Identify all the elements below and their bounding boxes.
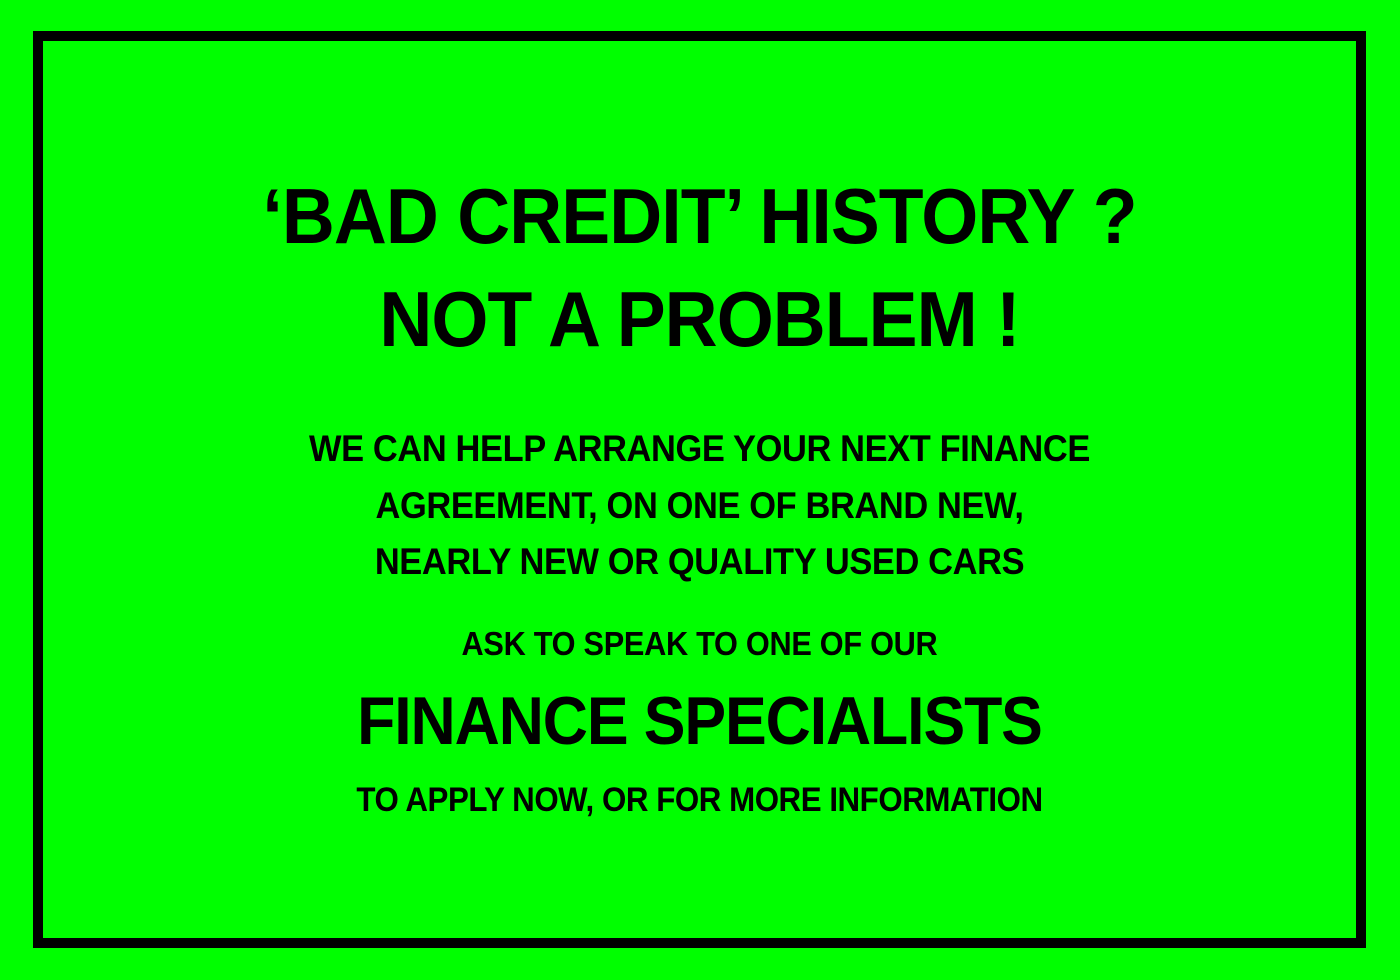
body-line-3: NEARLY NEW OR QUALITY USED CARS bbox=[89, 534, 1310, 591]
cta-lead-text: ASK TO SPEAK TO ONE OF OUR bbox=[89, 623, 1310, 665]
body-line-1: WE CAN HELP ARRANGE YOUR NEXT FINANCE bbox=[89, 421, 1310, 478]
body-line-2: AGREEMENT, ON ONE OF BRAND NEW, bbox=[89, 478, 1310, 535]
cta-tail-text: TO APPLY NOW, OR FOR MORE INFORMATION bbox=[96, 780, 1304, 821]
headline-block: ‘BAD CREDIT’ HISTORY ? NOT A PROBLEM ! bbox=[43, 165, 1356, 371]
call-to-action-block: ASK TO SPEAK TO ONE OF OUR FINANCE SPECI… bbox=[43, 623, 1356, 821]
body-paragraph-block: WE CAN HELP ARRANGE YOUR NEXT FINANCE AG… bbox=[43, 421, 1356, 591]
cta-headline-finance-specialists: FINANCE SPECIALISTS bbox=[96, 673, 1304, 770]
headline-line-1: ‘BAD CREDIT’ HISTORY ? bbox=[82, 165, 1316, 268]
headline-line-2: NOT A PROBLEM ! bbox=[82, 268, 1316, 371]
advertisement-poster: ‘BAD CREDIT’ HISTORY ? NOT A PROBLEM ! W… bbox=[0, 0, 1400, 980]
poster-content: ‘BAD CREDIT’ HISTORY ? NOT A PROBLEM ! W… bbox=[43, 41, 1356, 938]
